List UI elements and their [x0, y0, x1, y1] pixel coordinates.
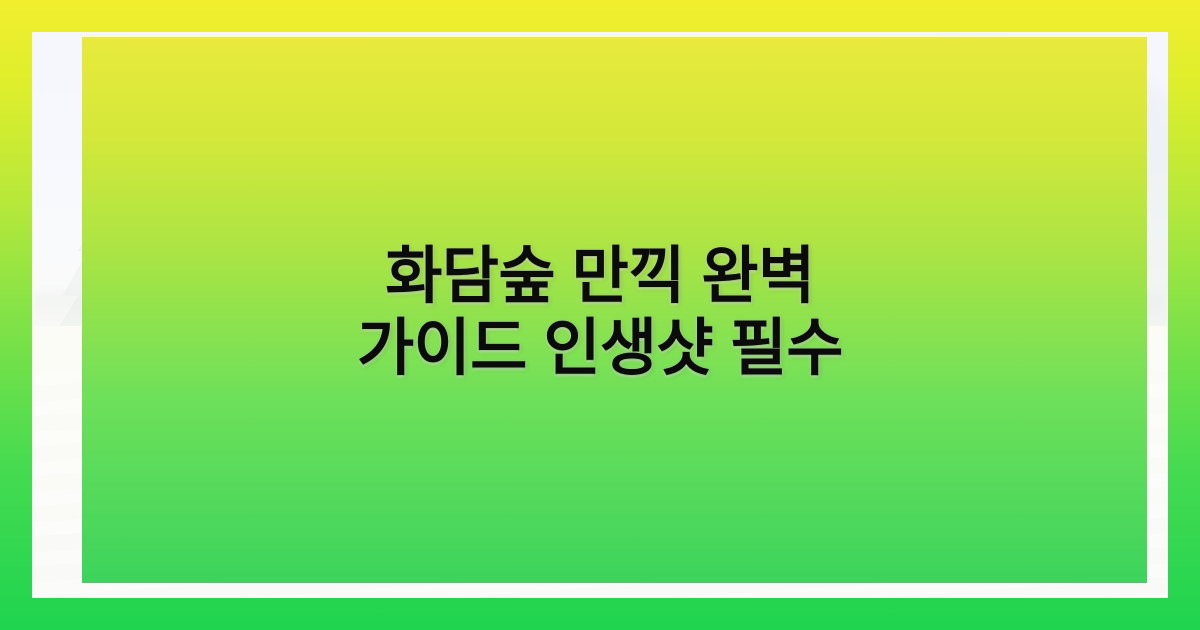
background-photo — [32, 32, 1168, 598]
lawn-marker — [837, 457, 853, 469]
thumbnail-card: 화담숲 만끽 완벽 가이드 인생샷 필수 — [0, 0, 1200, 630]
